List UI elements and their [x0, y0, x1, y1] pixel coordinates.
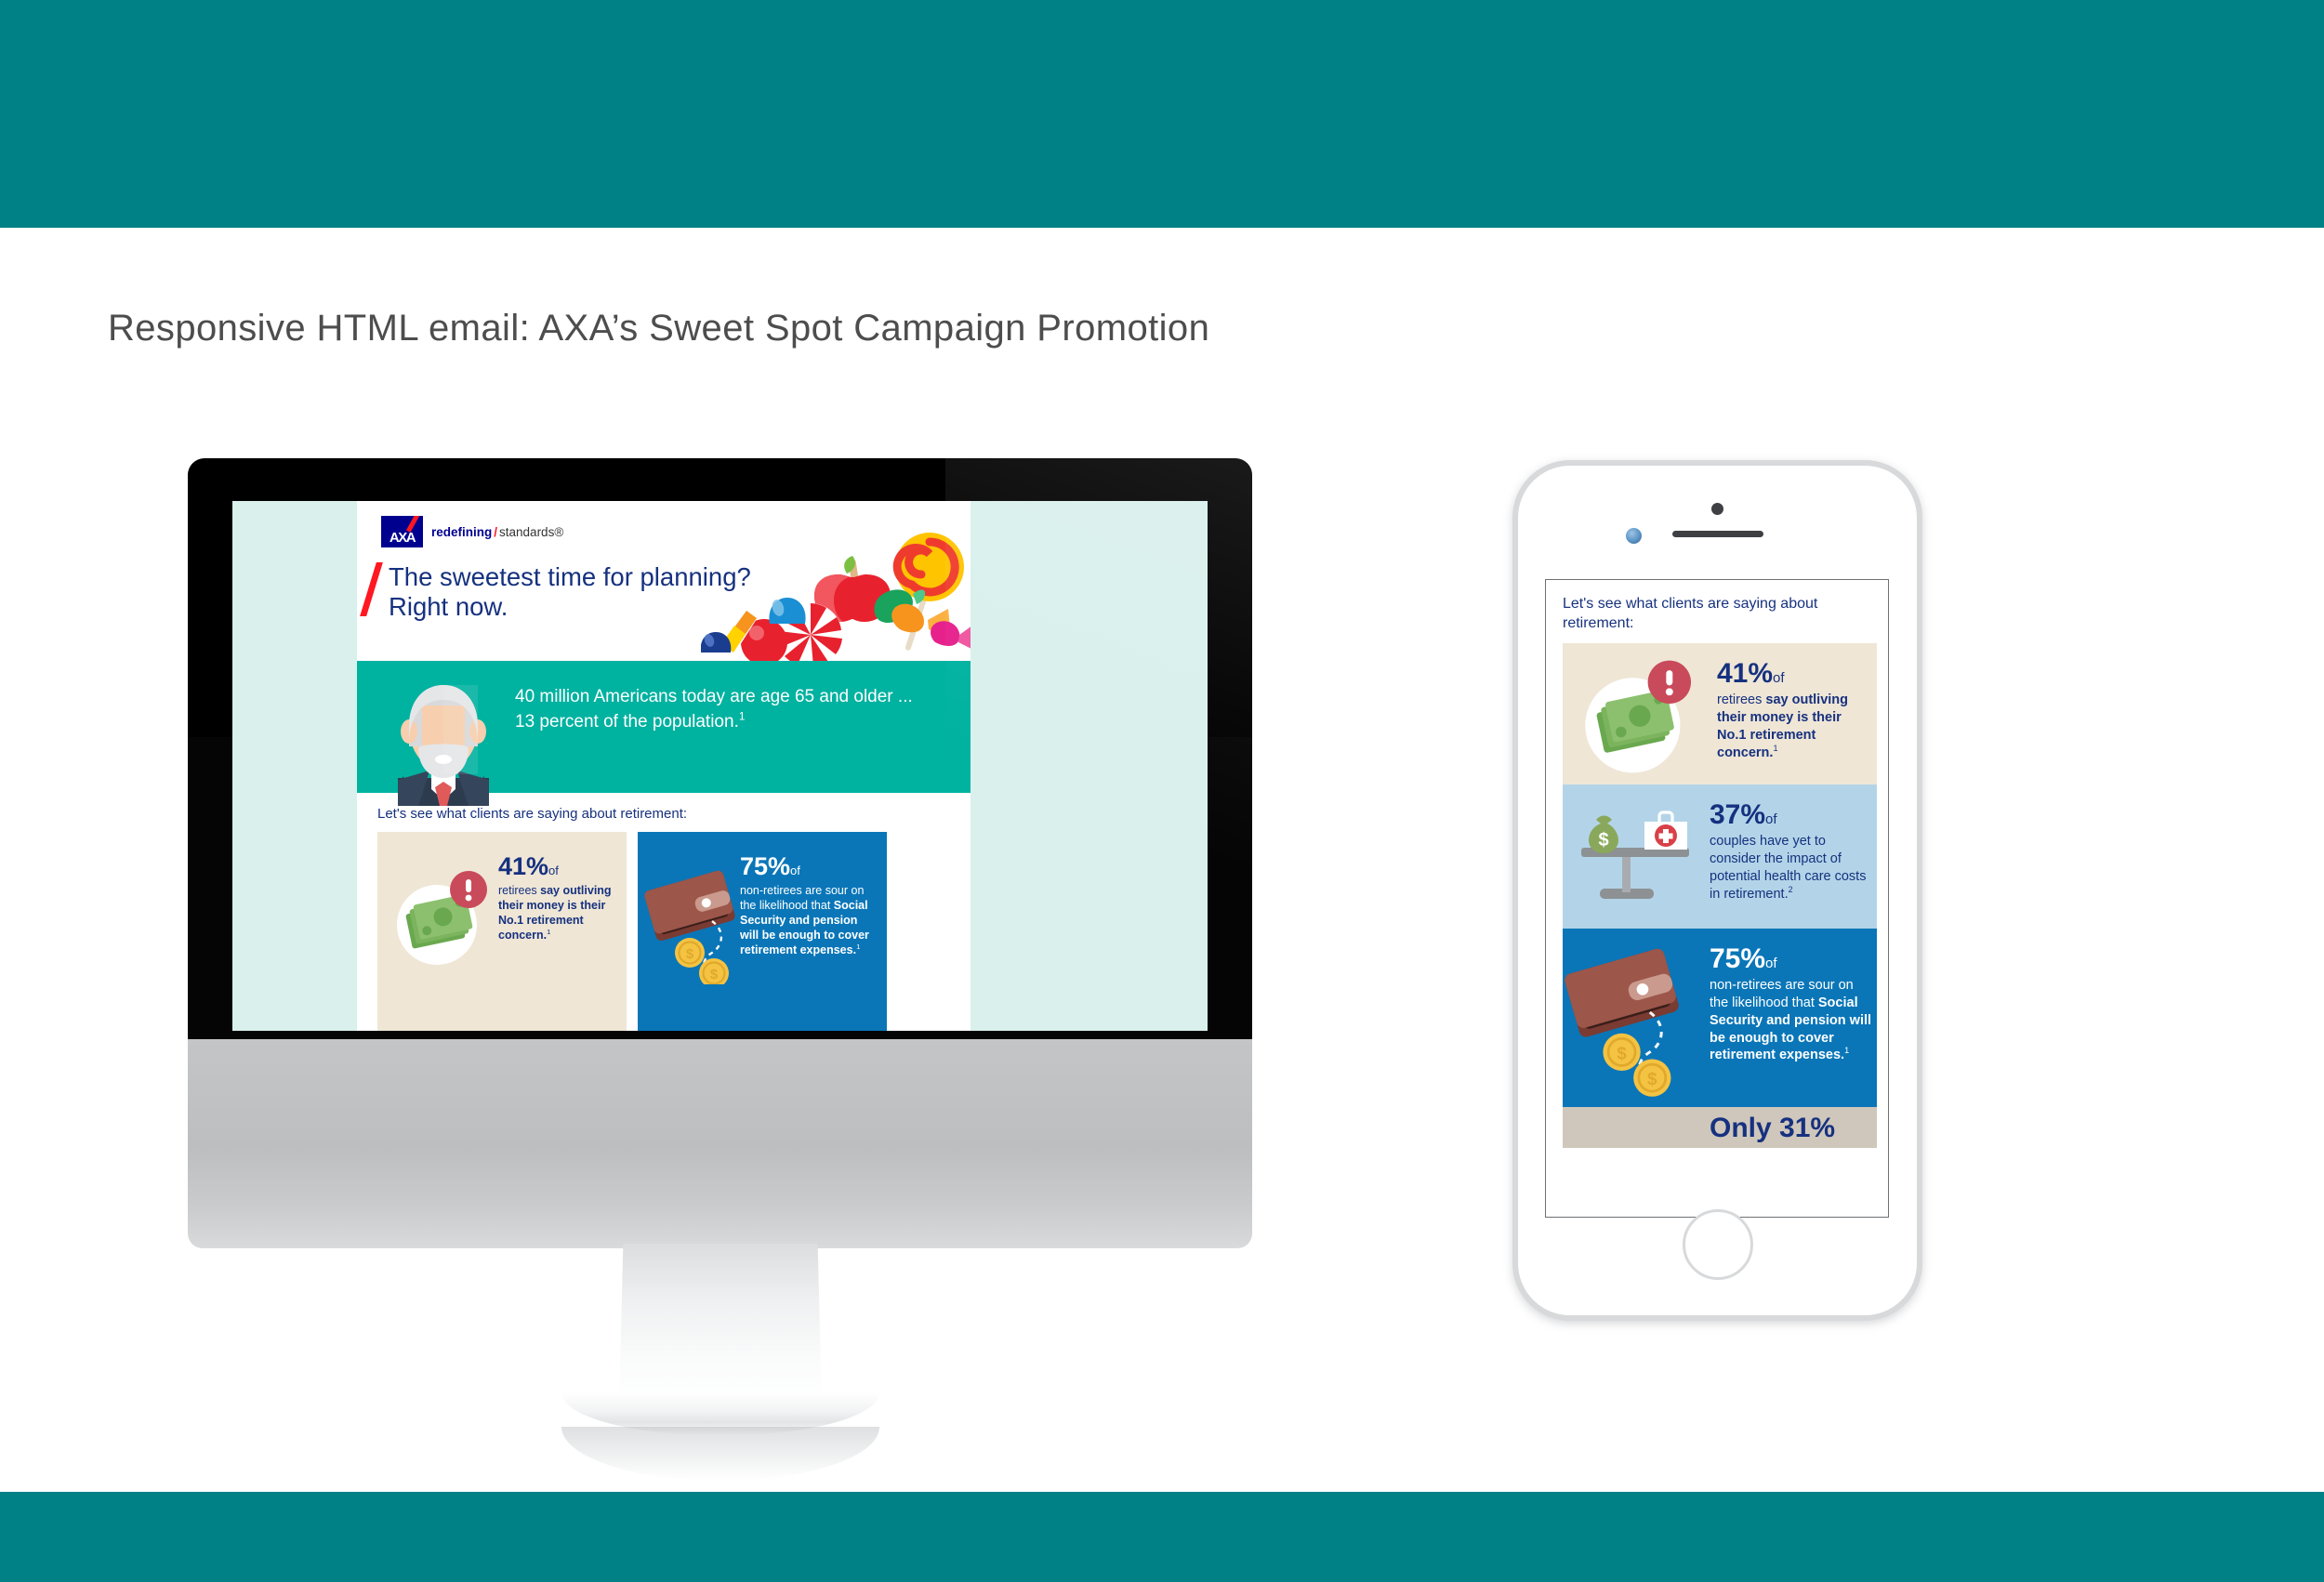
- bottom-teal-band: [0, 1492, 2324, 1582]
- svg-text:$: $: [710, 967, 719, 982]
- hero-text-body: 40 million Americans today are age 65 an…: [515, 687, 913, 732]
- stat-41-footnote-mobile: 1: [1773, 744, 1777, 753]
- stat-41-body: retirees say outliving their money is th…: [498, 884, 617, 943]
- home-button[interactable]: [1683, 1209, 1753, 1280]
- hero-footnote: 1: [739, 711, 746, 723]
- candy-illustration: [701, 525, 971, 665]
- stat-41-text-mobile: 41%of retirees say outliving their money…: [1717, 660, 1866, 761]
- brand-logo-row: AXA redefining/standards®: [381, 516, 563, 547]
- proximity-sensor-icon: [1626, 528, 1642, 544]
- stat-31-text-mobile: Only 31%: [1710, 1114, 1873, 1142]
- stat-75-body-mobile: non-retirees are sour on the likelihood …: [1710, 977, 1873, 1064]
- stats-subhead-desktop: Let's see what clients are saying about …: [377, 806, 935, 822]
- stat-37-footnote-mobile: 2: [1789, 885, 1793, 894]
- smartphone: Let's see what clients are saying about …: [1512, 460, 1922, 1321]
- stats-subhead-mobile: Let's see what clients are saying about …: [1563, 595, 1842, 634]
- monitor-screen[interactable]: AXA redefining/standards® The sweetest t…: [232, 501, 1208, 1031]
- email-preview-desktop: AXA redefining/standards® The sweetest t…: [357, 501, 971, 1031]
- front-camera-icon: [1711, 503, 1723, 515]
- stat-41-footnote: 1: [547, 927, 550, 935]
- stat-card-31-mobile[interactable]: Only 31%: [1563, 1107, 1877, 1148]
- stat-41-text: 41%of retirees say outliving their money…: [498, 854, 617, 943]
- money-healthcare-scale-icon: $: [1574, 798, 1704, 918]
- stat-75-footnote-mobile: 1: [1844, 1047, 1849, 1056]
- stat-75-of: of: [790, 864, 800, 877]
- top-teal-band: [0, 0, 2324, 228]
- stat-41-of-mobile: of: [1773, 670, 1785, 686]
- stat-card-75[interactable]: $ $ 75%of non-retirees are sour on the l…: [638, 832, 887, 1031]
- stat-37-percent-mobile: 37%: [1710, 799, 1765, 830]
- stats-card-row: 41%of retirees say outliving their money…: [377, 832, 954, 1031]
- stat-31-percent-mobile: Only 31%: [1710, 1113, 1835, 1143]
- stat-41-percent-mobile: 41%: [1717, 658, 1773, 689]
- brand-tagline: redefining/standards®: [431, 525, 563, 539]
- tagline-slash: /: [494, 525, 497, 539]
- stat-37-text-mobile: 37%of couples have yet to consider the i…: [1710, 801, 1869, 903]
- stat-37-body-mobile: couples have yet to consider the impact …: [1710, 833, 1869, 903]
- svg-text:$: $: [686, 946, 694, 962]
- monitor-stand-neck: [619, 1244, 822, 1406]
- stat-41-lead-mobile: retirees: [1717, 692, 1765, 707]
- axa-logo-letters: AXA: [381, 530, 423, 546]
- stats-card-list-mobile: 41%of retirees say outliving their money…: [1563, 643, 1877, 1148]
- stat-75-of-mobile: of: [1765, 956, 1777, 971]
- monitor-chin: [188, 1039, 1252, 1248]
- axa-logo-icon: AXA: [381, 516, 423, 547]
- stat-card-41[interactable]: 41%of retirees say outliving their money…: [377, 832, 627, 1031]
- cash-alert-icon: [389, 867, 493, 971]
- hero-teal-strip: 40 million Americans today are age 65 an…: [357, 661, 971, 793]
- wallet-coins-icon: $ $: [1563, 940, 1700, 1098]
- stat-75-footnote: 1: [856, 942, 860, 950]
- cash-alert-icon: [1572, 656, 1702, 777]
- stat-75-text: 75%of non-retirees are sour on the likel…: [740, 854, 879, 957]
- page-title: Responsive HTML email: AXA’s Sweet Spot …: [108, 308, 1209, 349]
- desktop-monitor: AXA redefining/standards® The sweetest t…: [188, 458, 1252, 1323]
- earpiece-speaker-icon: [1672, 531, 1763, 537]
- stat-41-body-mobile: retirees say outliving their money is th…: [1717, 692, 1866, 761]
- tagline-bold: redefining: [431, 525, 492, 539]
- headline-slash-icon: [360, 562, 383, 616]
- svg-text:$: $: [1647, 1070, 1657, 1089]
- monitor-shadow: [561, 1427, 879, 1481]
- hero-text: 40 million Americans today are age 65 an…: [515, 685, 924, 735]
- stat-card-41-mobile[interactable]: 41%of retirees say outliving their money…: [1563, 643, 1877, 784]
- tagline-rest: standards®: [499, 525, 563, 539]
- stat-75-percent-mobile: 75%: [1710, 943, 1765, 974]
- stat-75-body: non-retirees are sour on the likelihood …: [740, 884, 879, 957]
- stat-41-lead: retirees: [498, 884, 540, 897]
- stat-75-text-mobile: 75%of non-retirees are sour on the likel…: [1710, 945, 1873, 1064]
- wallet-coins-icon: $ $: [643, 864, 750, 984]
- stat-card-75-mobile[interactable]: $ $ 75%of non-retirees are sour on the l…: [1563, 929, 1877, 1107]
- stat-37-of-mobile: of: [1765, 811, 1777, 827]
- stat-card-37-mobile[interactable]: $ 37%of couples have yet to consider the…: [1563, 784, 1877, 929]
- svg-text:$: $: [1617, 1044, 1627, 1063]
- stat-41-of: of: [548, 864, 559, 877]
- phone-screen[interactable]: Let's see what clients are saying about …: [1545, 579, 1889, 1218]
- svg-text:$: $: [1598, 830, 1608, 850]
- elderly-man-avatar: [374, 674, 513, 806]
- stat-75-percent: 75%: [740, 852, 790, 880]
- stat-41-percent: 41%: [498, 852, 548, 880]
